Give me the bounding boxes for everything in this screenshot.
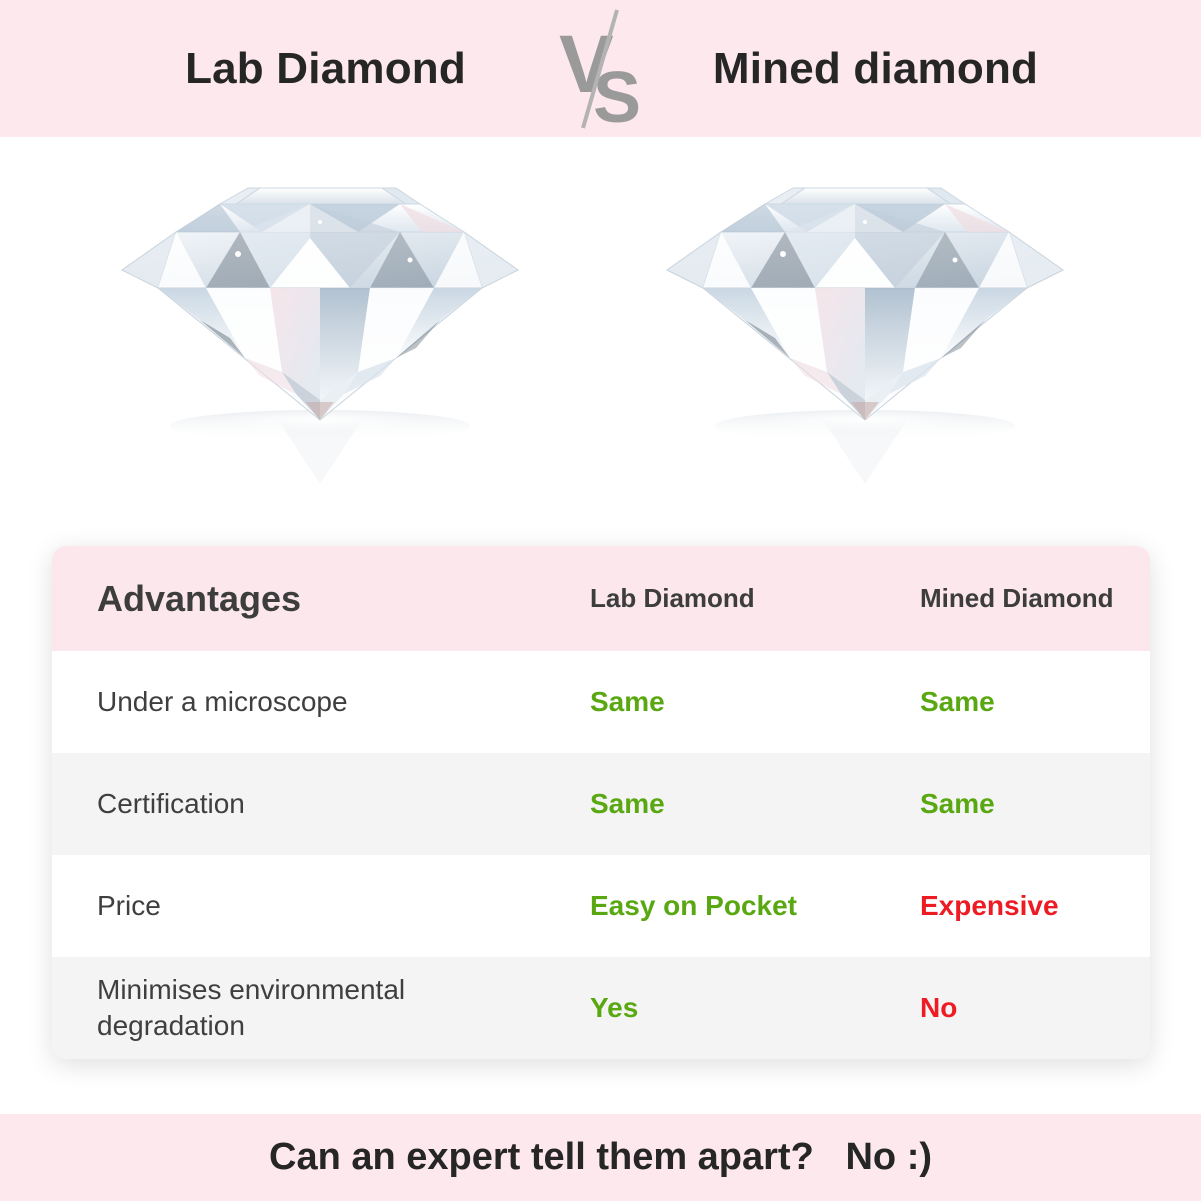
row-label: Price (52, 888, 542, 924)
row-value-lab: Easy on Pocket (542, 890, 872, 922)
diamond-stage (0, 137, 1201, 532)
row-value-mined: Same (872, 788, 1150, 820)
row-value-lab: Same (542, 788, 872, 820)
row-value-mined: No (872, 992, 1150, 1024)
row-label: Certification (52, 786, 542, 822)
table-row: Certification Same Same (52, 753, 1150, 855)
table-row: Under a microscope Same Same (52, 651, 1150, 753)
comparison-table-card: Advantages Lab Diamond Mined Diamond Und… (52, 546, 1150, 1059)
column-header-lab-diamond: Lab Diamond (542, 583, 872, 614)
advantages-heading: Advantages (52, 578, 542, 620)
lab-diamond-image (110, 162, 530, 492)
row-label: Minimises environmental degradation (52, 972, 542, 1045)
row-value-lab: Same (542, 686, 872, 718)
bottom-banner: Can an expert tell them apart? No :) (0, 1114, 1201, 1201)
top-banner: Lab Diamond V S Mined diamond (0, 0, 1201, 137)
row-label: Under a microscope (52, 684, 542, 720)
mined-diamond-title: Mined diamond (661, 44, 1091, 94)
row-value-mined: Same (872, 686, 1150, 718)
column-header-mined-diamond: Mined Diamond (872, 583, 1150, 614)
table-row: Price Easy on Pocket Expensive (52, 855, 1150, 957)
row-value-lab: Yes (542, 992, 872, 1024)
footer-question: Can an expert tell them apart? No :) (269, 1136, 932, 1179)
lab-diamond-title: Lab Diamond (111, 44, 541, 94)
vs-badge: V S (541, 4, 661, 134)
table-header-row: Advantages Lab Diamond Mined Diamond (52, 546, 1150, 651)
table-row: Minimises environmental degradation Yes … (52, 957, 1150, 1059)
row-value-mined: Expensive (872, 890, 1150, 922)
mined-diamond-image (655, 162, 1075, 492)
